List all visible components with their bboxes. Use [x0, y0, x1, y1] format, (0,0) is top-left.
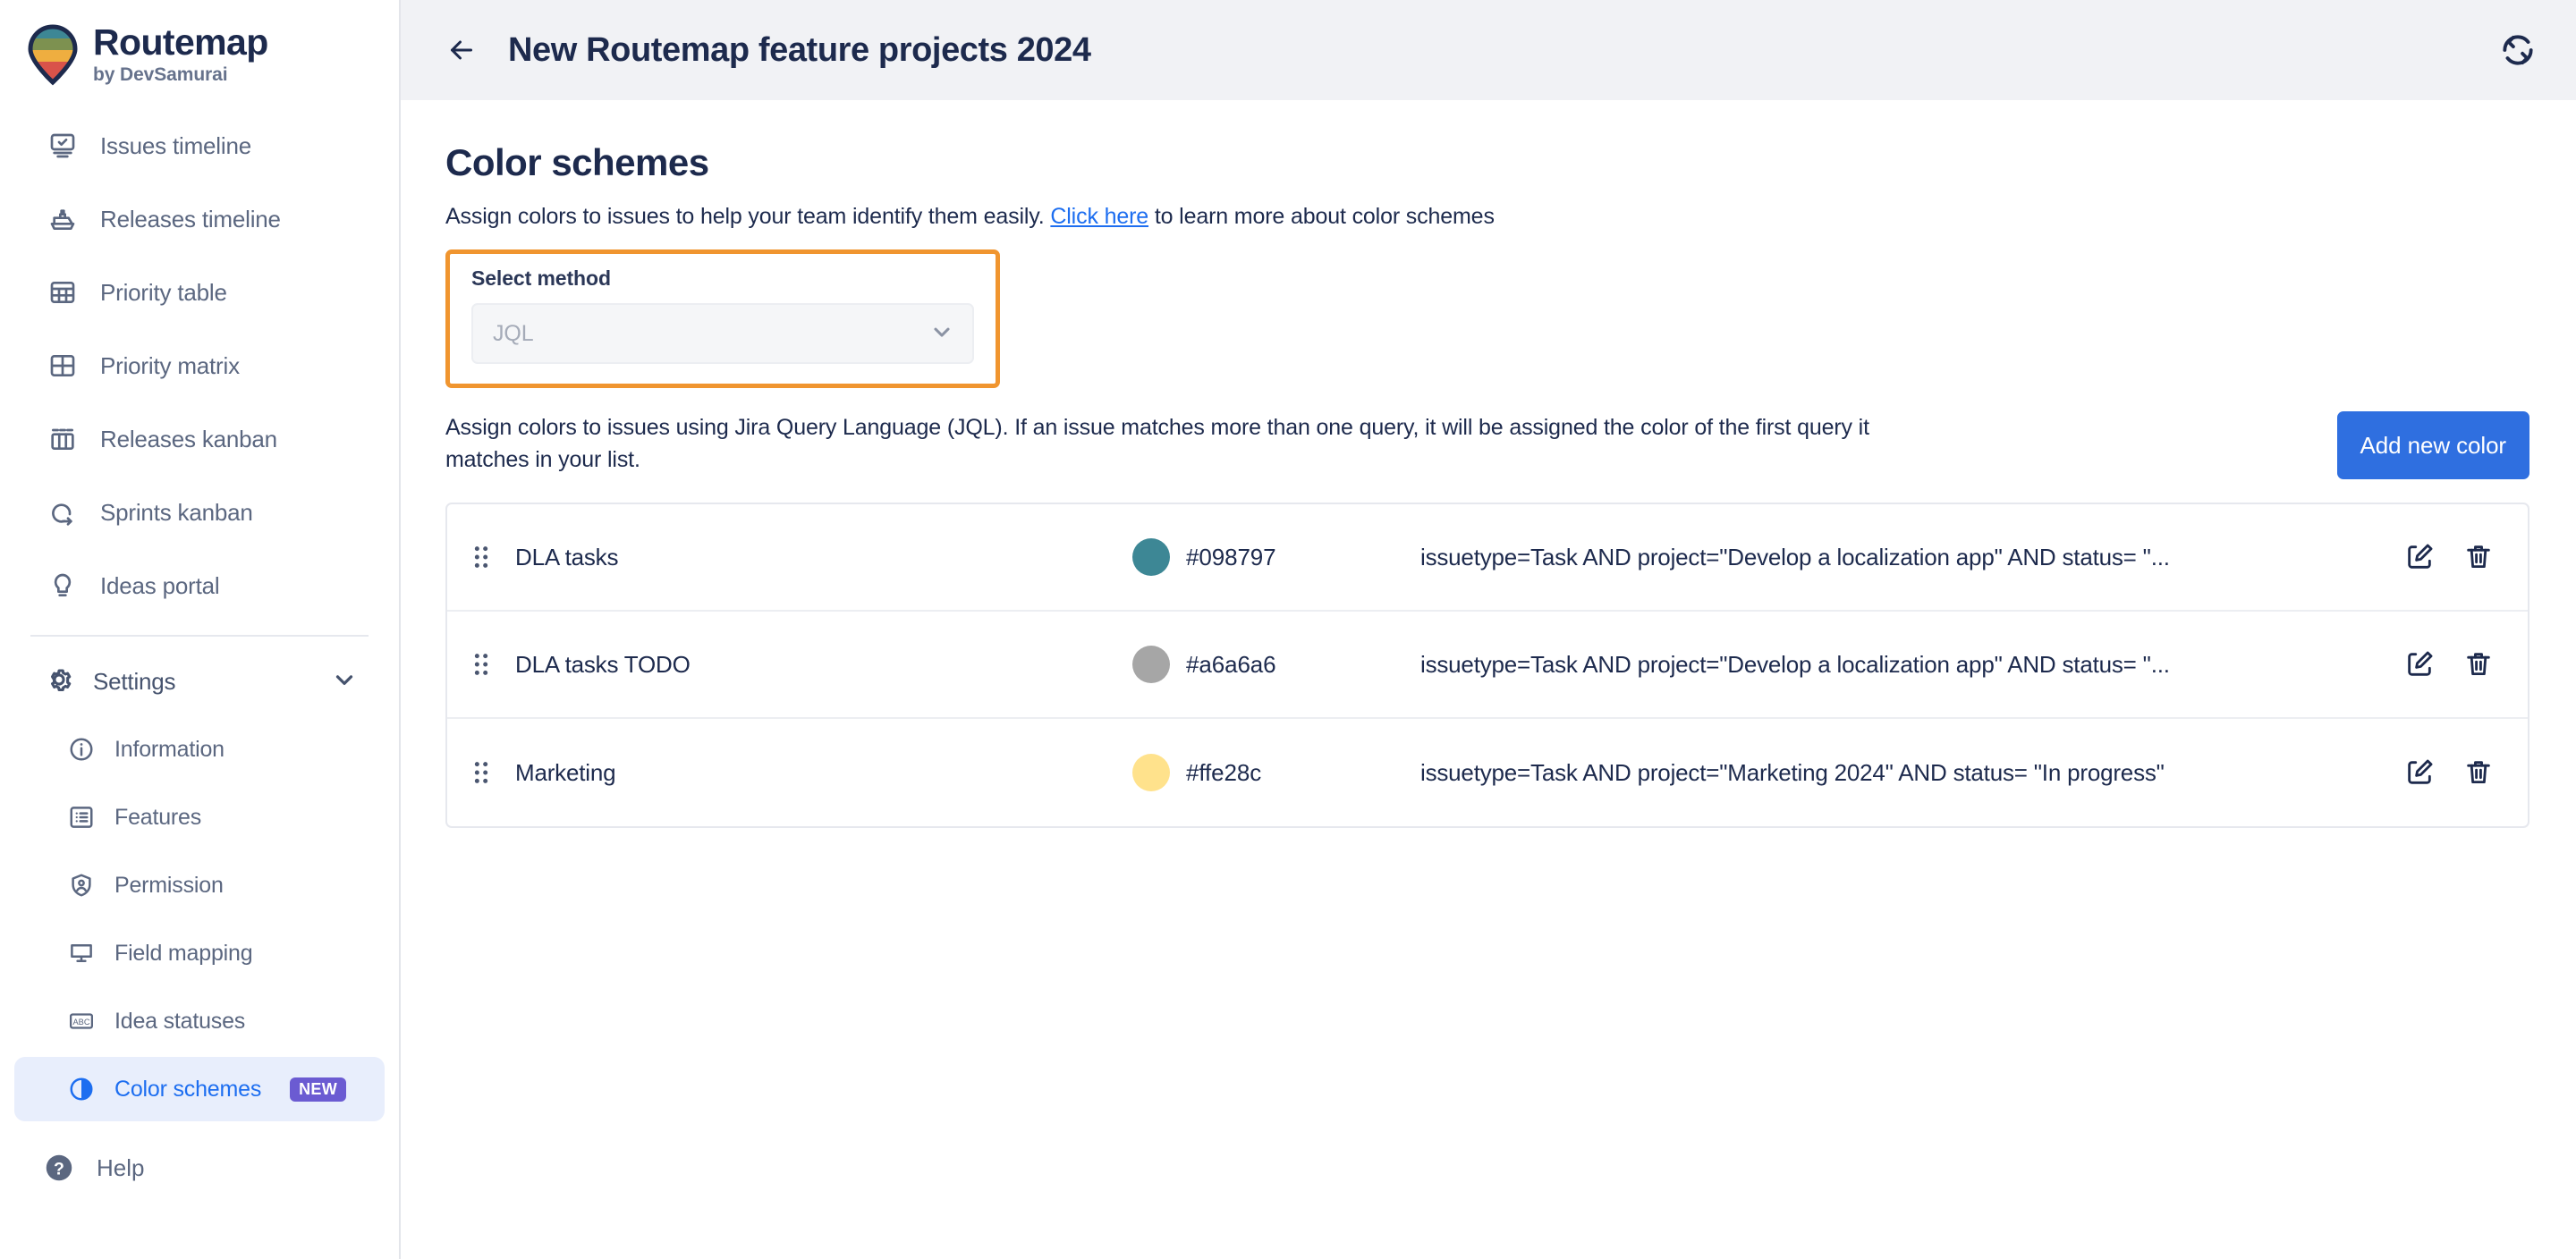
edit-icon[interactable]	[2402, 540, 2436, 574]
trash-icon[interactable]	[2462, 756, 2495, 790]
scheme-jql-query: issuetype=Task AND project="Marketing 20…	[1420, 759, 2385, 787]
table-row[interactable]: DLA tasks TODO #a6a6a6 issuetype=Task AN…	[447, 612, 2528, 719]
main-area: New Routemap feature projects 2024 Color…	[401, 0, 2576, 1259]
color-hex-code: #a6a6a6	[1186, 651, 1276, 679]
page-title: New Routemap feature projects 2024	[508, 31, 2492, 70]
brand-subtitle: by DevSamurai	[93, 64, 268, 86]
brand-title: Routemap	[93, 23, 268, 62]
gear-icon	[45, 665, 73, 698]
sidebar-subitem-label: Field mapping	[114, 941, 252, 967]
priority-table-icon	[45, 275, 80, 310]
priority-matrix-icon	[45, 348, 80, 384]
drag-handle-icon[interactable]	[447, 652, 515, 677]
sidebar-subitem-label: Information	[114, 737, 225, 763]
ideas-portal-icon	[45, 568, 80, 604]
section-description: Assign colors to issues to help your tea…	[445, 204, 2529, 230]
sidebar-item-label: Priority table	[100, 279, 227, 307]
sidebar-item-sprints-kanban[interactable]: Sprints kanban	[14, 476, 385, 549]
trash-icon[interactable]	[2462, 540, 2495, 574]
color-hex-code: #098797	[1186, 544, 1276, 571]
add-new-color-button[interactable]: Add new color	[2337, 411, 2529, 479]
status-badge-new: NEW	[290, 1077, 346, 1102]
learn-more-link[interactable]: Click here	[1050, 204, 1148, 229]
section-title: Color schemes	[445, 141, 2529, 184]
table-row[interactable]: DLA tasks #098797 issuetype=Task AND pro…	[447, 504, 2528, 612]
abc-icon: ABC	[66, 1006, 97, 1036]
drag-handle-icon[interactable]	[447, 760, 515, 785]
info-circle-icon	[66, 734, 97, 765]
sidebar-item-label: Releases timeline	[100, 206, 281, 233]
sidebar-item-idea-statuses[interactable]: ABC Idea statuses	[14, 989, 385, 1053]
sprints-kanban-icon	[45, 494, 80, 530]
row-actions	[2385, 540, 2528, 574]
edit-icon[interactable]	[2402, 647, 2436, 681]
svg-text:ABC: ABC	[72, 1018, 89, 1027]
scheme-jql-query: issuetype=Task AND project="Develop a lo…	[1420, 544, 2385, 571]
svg-text:?: ?	[54, 1160, 64, 1179]
scheme-name: DLA tasks TODO	[515, 651, 1132, 679]
sync-refresh-icon[interactable]	[2492, 24, 2544, 76]
assign-description-row: Assign colors to issues using Jira Query…	[445, 411, 2529, 479]
row-actions	[2385, 756, 2528, 790]
chevron-down-icon[interactable]	[331, 666, 358, 697]
scheme-name: Marketing	[515, 759, 1132, 787]
scheme-name: DLA tasks	[515, 544, 1132, 571]
scheme-color-cell: #a6a6a6	[1132, 646, 1420, 683]
app-root: Routemap by DevSamurai Issues timeline	[0, 0, 2576, 1259]
color-schemes-table: DLA tasks #098797 issuetype=Task AND pro…	[445, 503, 2529, 828]
sidebar-item-releases-timeline[interactable]: Releases timeline	[14, 182, 385, 256]
scheme-jql-query: issuetype=Task AND project="Develop a lo…	[1420, 651, 2385, 679]
releases-kanban-icon	[45, 421, 80, 457]
color-swatch	[1132, 538, 1170, 576]
features-list-icon	[66, 802, 97, 832]
sidebar-item-permission[interactable]: Permission	[14, 853, 385, 917]
sidebar-item-releases-kanban[interactable]: Releases kanban	[14, 402, 385, 476]
color-contrast-icon	[66, 1074, 97, 1104]
edit-icon[interactable]	[2402, 756, 2436, 790]
sidebar-subitem-label: Idea statuses	[114, 1009, 245, 1035]
sidebar-settings-label: Settings	[93, 668, 311, 696]
sidebar-help-label: Help	[97, 1154, 144, 1182]
monitor-icon	[66, 938, 97, 968]
color-swatch	[1132, 754, 1170, 791]
sidebar-item-label: Issues timeline	[100, 132, 251, 160]
scheme-color-cell: #ffe28c	[1132, 754, 1420, 791]
color-swatch	[1132, 646, 1170, 683]
releases-timeline-icon	[45, 201, 80, 237]
sidebar-item-features[interactable]: Features	[14, 785, 385, 849]
select-method-label: Select method	[471, 266, 974, 291]
description-text-after: to learn more about color schemes	[1148, 204, 1495, 229]
row-actions	[2385, 647, 2528, 681]
sidebar-item-color-schemes[interactable]: Color schemes NEW	[14, 1057, 385, 1121]
help-circle-icon: ?	[41, 1150, 77, 1186]
sidebar-item-field-mapping[interactable]: Field mapping	[14, 921, 385, 985]
sidebar-item-help[interactable]: ? Help	[14, 1134, 385, 1202]
arrow-left-icon[interactable]	[438, 27, 485, 73]
sidebar-nav: Issues timeline Releases timeline P	[0, 106, 399, 1202]
topbar: New Routemap feature projects 2024	[401, 0, 2576, 100]
sidebar: Routemap by DevSamurai Issues timeline	[0, 0, 401, 1259]
scheme-color-cell: #098797	[1132, 538, 1420, 576]
select-method-dropdown[interactable]: JQL	[471, 303, 974, 364]
description-text-before: Assign colors to issues to help your tea…	[445, 204, 1050, 229]
table-row[interactable]: Marketing #ffe28c issuetype=Task AND pro…	[447, 719, 2528, 826]
sidebar-item-priority-table[interactable]: Priority table	[14, 256, 385, 329]
chevron-down-icon	[929, 319, 954, 349]
sidebar-subitem-label: Permission	[114, 873, 224, 899]
sidebar-item-label: Sprints kanban	[100, 499, 253, 527]
sidebar-subitem-label: Features	[114, 805, 201, 831]
content-panel: Color schemes Assign colors to issues to…	[401, 100, 2576, 1259]
sidebar-item-label: Priority matrix	[100, 352, 240, 380]
select-method-value: JQL	[493, 321, 929, 347]
issues-timeline-icon	[45, 128, 80, 164]
drag-handle-icon[interactable]	[447, 545, 515, 570]
sidebar-item-information[interactable]: Information	[14, 717, 385, 782]
sidebar-item-issues-timeline[interactable]: Issues timeline	[14, 109, 385, 182]
sidebar-item-priority-matrix[interactable]: Priority matrix	[14, 329, 385, 402]
routemap-logo-icon	[25, 23, 80, 86]
shield-user-icon	[66, 870, 97, 900]
sidebar-item-label: Ideas portal	[100, 572, 219, 600]
color-hex-code: #ffe28c	[1186, 759, 1261, 787]
sidebar-item-ideas-portal[interactable]: Ideas portal	[14, 549, 385, 622]
sidebar-item-settings[interactable]: Settings	[14, 646, 385, 717]
brand-header[interactable]: Routemap by DevSamurai	[0, 0, 399, 106]
sidebar-divider	[30, 635, 369, 637]
sidebar-subitem-label: Color schemes	[114, 1077, 261, 1103]
sidebar-item-label: Releases kanban	[100, 426, 277, 453]
assign-description: Assign colors to issues using Jira Query…	[445, 411, 1948, 477]
trash-icon[interactable]	[2462, 647, 2495, 681]
select-method-highlight: Select method JQL	[445, 249, 1000, 388]
